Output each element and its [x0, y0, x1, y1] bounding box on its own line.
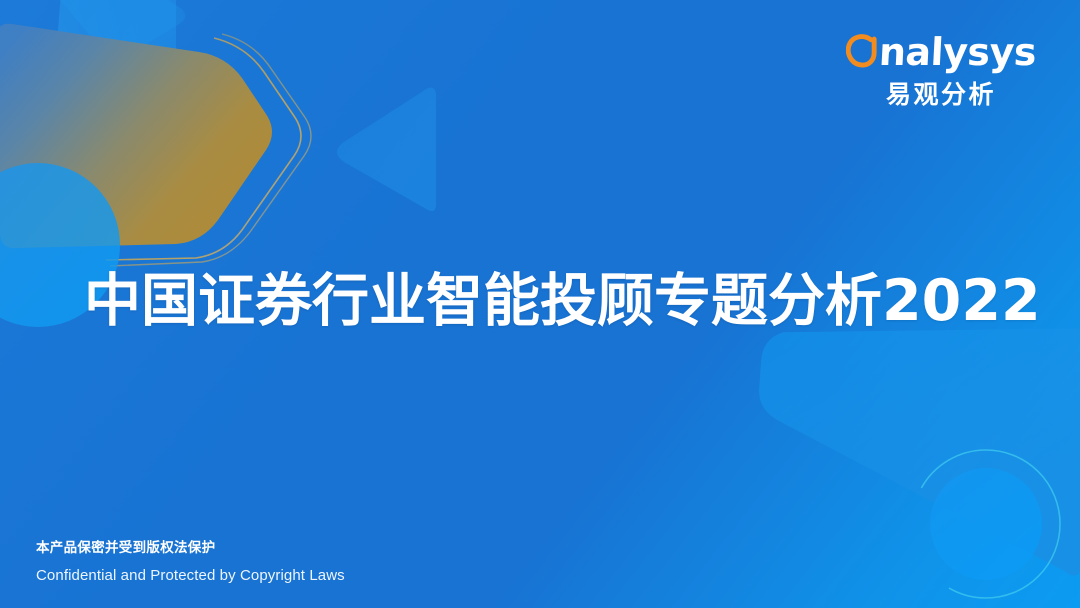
analysys-logo: nalysys 易观分析 — [846, 28, 1036, 107]
logo-chinese-name: 易观分析 — [846, 82, 1036, 107]
analysys-a-swoosh-icon — [846, 30, 881, 74]
large-triangle-bottom-right — [748, 306, 1080, 576]
footer-confidential-cn: 本产品保密并受到版权法保护 — [36, 536, 345, 556]
logo-mark-row: nalysys — [846, 28, 1036, 76]
gold-outline-stroke — [106, 34, 311, 266]
cyan-ring-arc — [912, 450, 1060, 598]
footer: 本产品保密并受到版权法保护 Confidential and Protected… — [36, 536, 345, 584]
circle-bottom-right — [930, 468, 1042, 580]
gradient-chevron-arrow — [0, 24, 272, 248]
footer-confidential-en: Confidential and Protected by Copyright … — [36, 567, 345, 584]
page-title: 中国证券行业智能投顾专题分析2022 — [84, 255, 1041, 337]
light-triangle-upper-mid — [30, 0, 176, 123]
light-triangle-right-top — [337, 88, 436, 211]
title-slide: nalysys 易观分析 中国证券行业智能投顾专题分析2022 本产品保密并受到… — [0, 0, 1080, 608]
logo-wordmark: nalysys — [878, 30, 1037, 74]
light-triangle-top-left — [0, 0, 188, 130]
